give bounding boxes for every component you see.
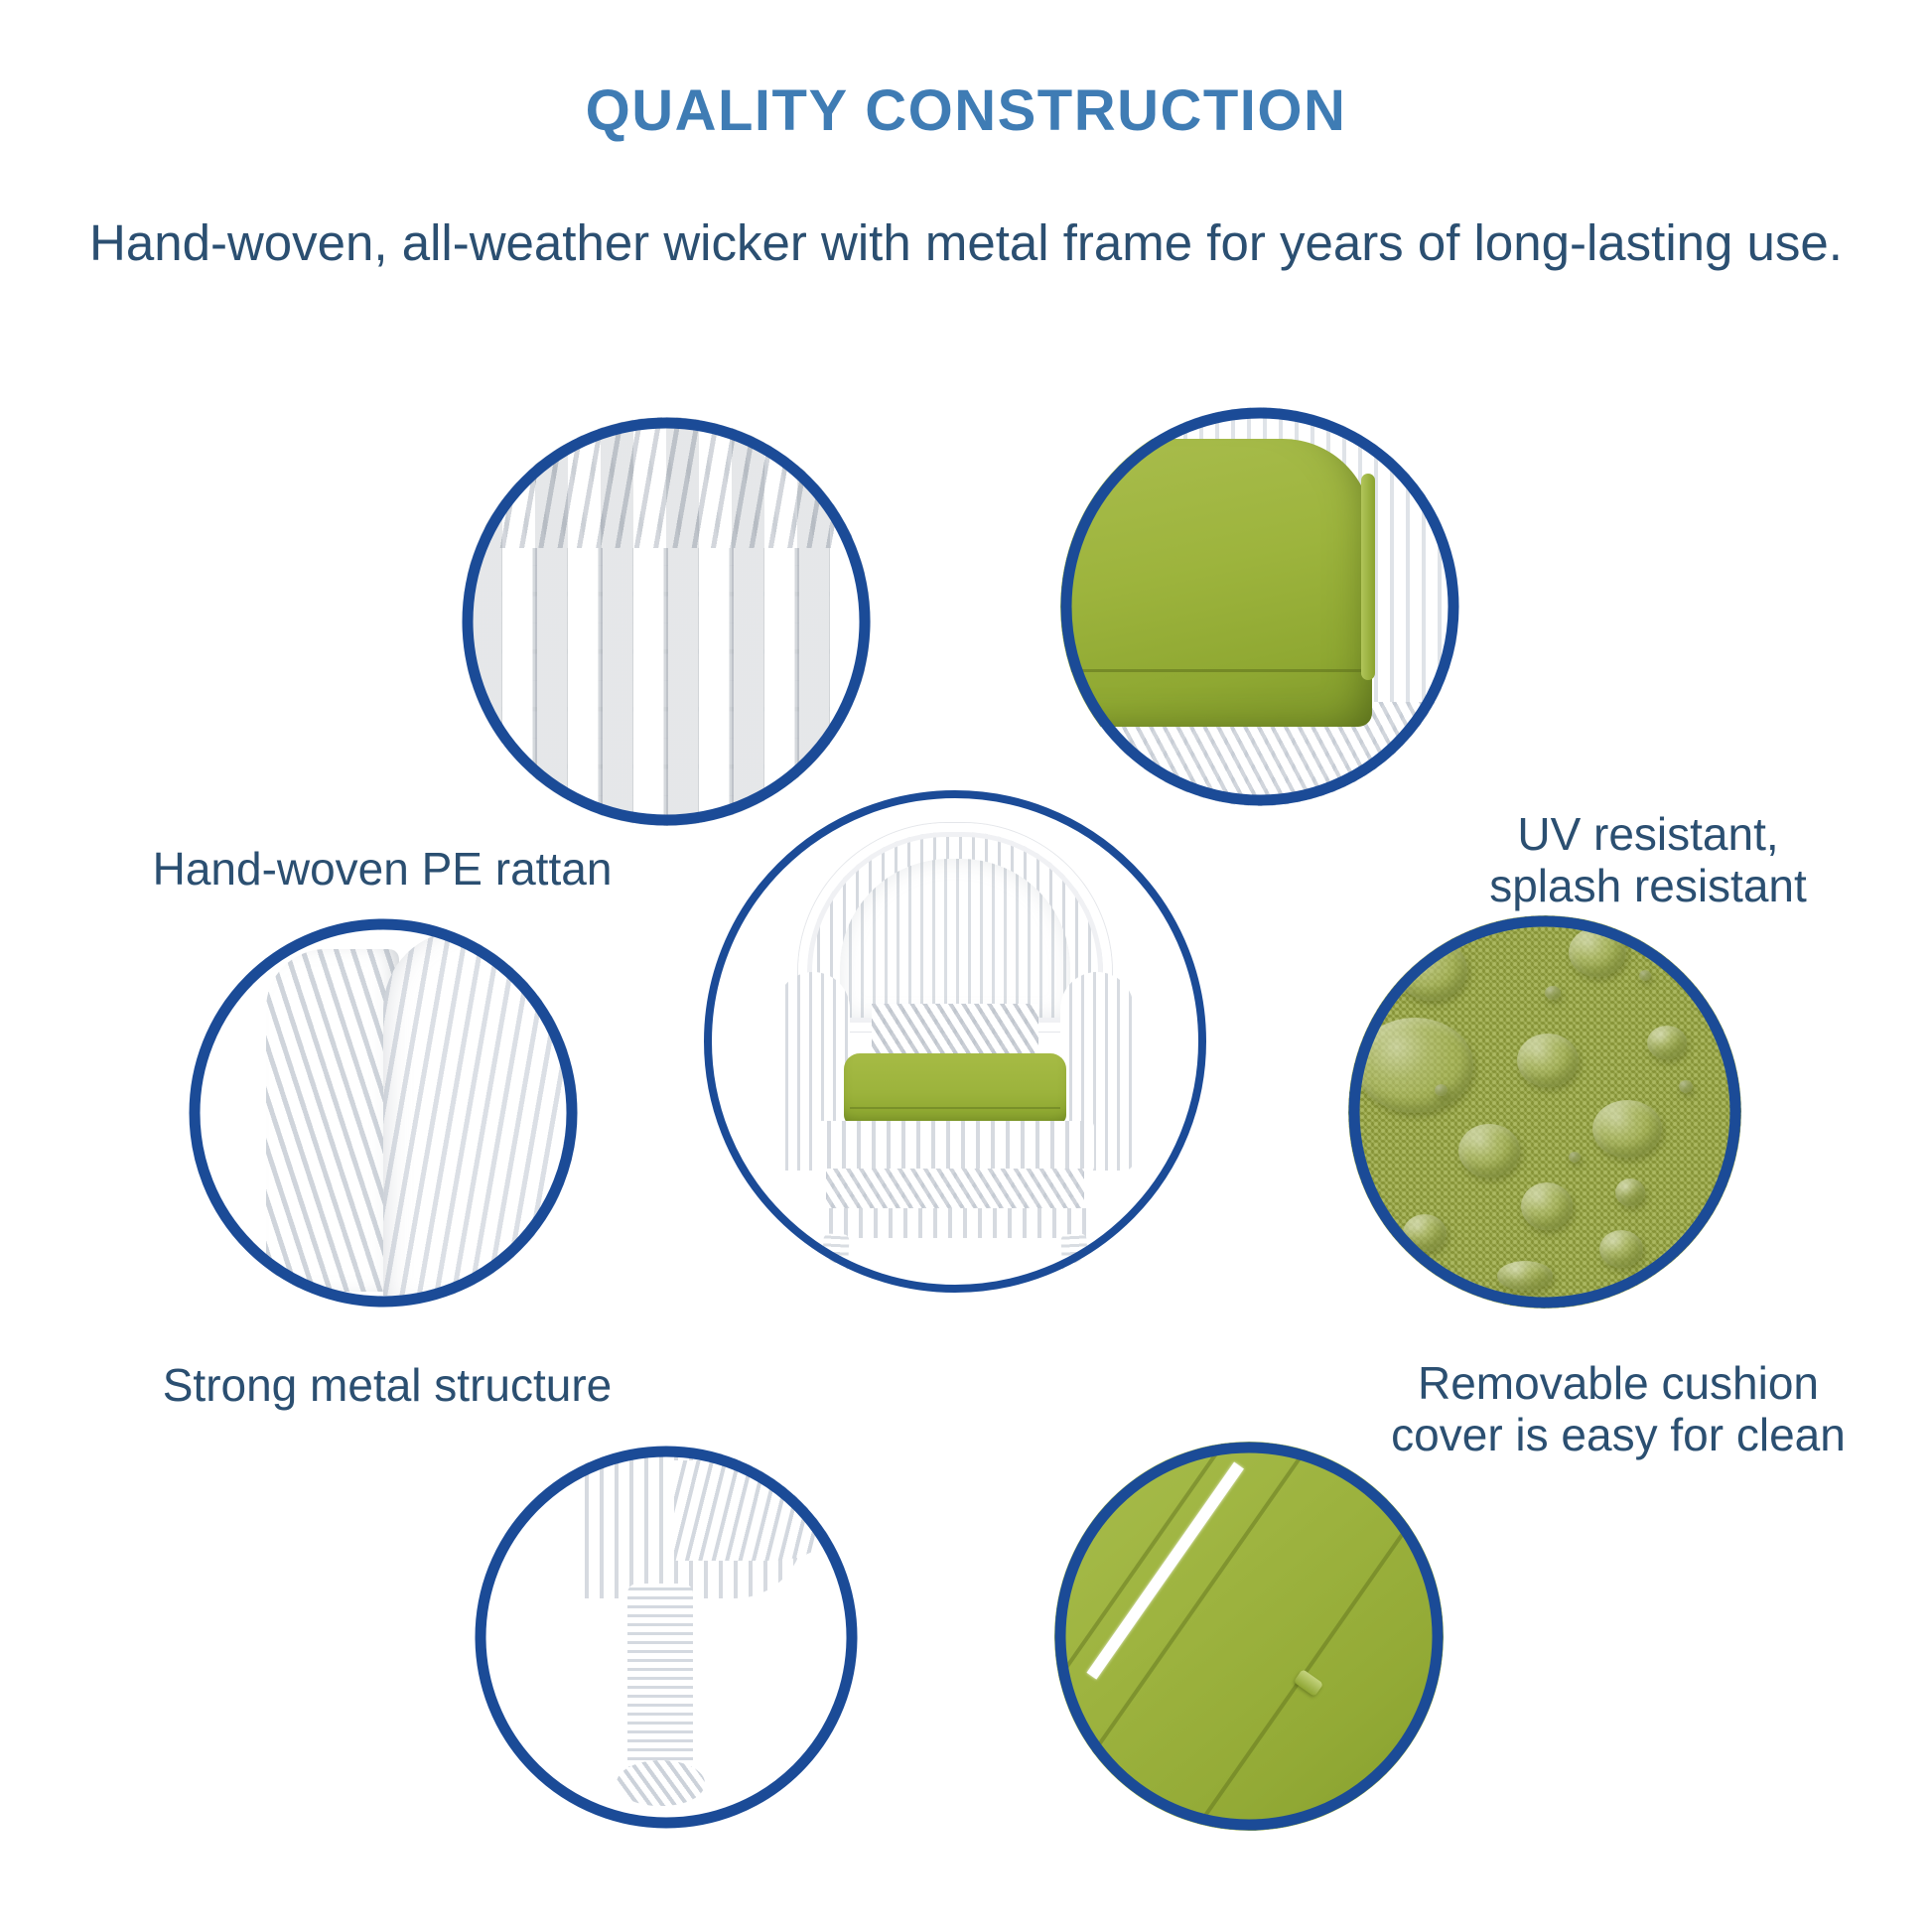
- arm-corner-image: [189, 918, 578, 1308]
- water-droplet: [1599, 1230, 1643, 1268]
- hero-circle-full-chair: [703, 789, 1207, 1294]
- green-cushion-back: [1060, 439, 1372, 726]
- weave-top-strands: [462, 417, 871, 548]
- water-droplet: [1647, 1026, 1687, 1059]
- cushion-piping: [1361, 474, 1375, 680]
- feature-circle-cushion-zipper-detail: [1054, 1442, 1444, 1831]
- water-droplet: [1403, 1214, 1447, 1252]
- chair-leg-left: [820, 1233, 849, 1294]
- chair-leg-right: [1060, 1233, 1089, 1294]
- wicker-armchair: [776, 823, 1134, 1260]
- caption-uv-splash-resistant: UV resistant, splash resistant: [1370, 809, 1926, 912]
- water-droplet: [1569, 927, 1626, 977]
- uv-splash-image: [1060, 407, 1459, 806]
- water-droplet: [1569, 1152, 1581, 1163]
- leg-foot-cap: [617, 1760, 705, 1806]
- caption-removable-cushion-cover: Removable cushion cover is easy for clea…: [1320, 1358, 1916, 1461]
- page-title: QUALITY CONSTRUCTION: [0, 77, 1932, 144]
- zipper-pull: [1294, 1669, 1323, 1697]
- wicker-leg: [475, 1446, 858, 1829]
- wicker-arm-corner: [189, 918, 578, 1308]
- cushion-zipper-image: [1054, 1442, 1444, 1831]
- caption-strong-metal-structure: Strong metal structure: [79, 1360, 695, 1412]
- chair-seat-cushion: [844, 1053, 1066, 1125]
- chair-back-lattice: [872, 1004, 1038, 1059]
- uv-fabric-texture: [1348, 915, 1741, 1309]
- water-droplet: [1517, 1034, 1579, 1087]
- arm-side-face: [383, 930, 578, 1296]
- feature-circle-hand-woven-pe-rattan: [462, 417, 871, 826]
- water-droplet: [1396, 939, 1467, 1001]
- feature-circle-uv-splash-resistant: [1060, 407, 1459, 806]
- chair-skirt-lattice: [826, 1169, 1084, 1212]
- leg-curve-weave: [674, 1460, 858, 1560]
- water-droplet: [1458, 1124, 1520, 1177]
- green-cushion-cover: [1054, 1442, 1444, 1831]
- leg-wrapped-post: [627, 1584, 693, 1775]
- water-droplet: [1497, 1261, 1553, 1291]
- chair-bottom-rail: [818, 1208, 1092, 1238]
- water-droplet: [1639, 970, 1651, 981]
- water-droplet: [1521, 1182, 1573, 1230]
- feature-circle-chair-leg-detail: [475, 1446, 858, 1829]
- full-chair-image: [703, 789, 1207, 1294]
- water-droplet: [1356, 1018, 1473, 1113]
- water-droplets-image: [1348, 915, 1741, 1309]
- chair-seat-base: [816, 1121, 1094, 1173]
- water-droplet: [1545, 986, 1561, 1000]
- basket-weave-texture: [462, 417, 871, 826]
- water-droplet: [1615, 1178, 1645, 1206]
- water-droplet: [1592, 1100, 1662, 1158]
- cushion-seam: [1060, 669, 1372, 672]
- arm-front-face: [266, 949, 398, 1292]
- chair-leg-image: [475, 1446, 858, 1829]
- infographic-canvas: QUALITY CONSTRUCTION Hand-woven, all-wea…: [0, 0, 1932, 1932]
- page-subtitle: Hand-woven, all-weather wicker with meta…: [0, 213, 1932, 272]
- water-droplet: [1679, 1080, 1693, 1093]
- feature-circle-strong-metal-structure: [189, 918, 578, 1308]
- hand-woven-rattan-image: [462, 417, 871, 826]
- feature-circle-removable-cushion-cover: [1348, 915, 1741, 1309]
- caption-hand-woven-pe-rattan: Hand-woven PE rattan: [79, 844, 685, 896]
